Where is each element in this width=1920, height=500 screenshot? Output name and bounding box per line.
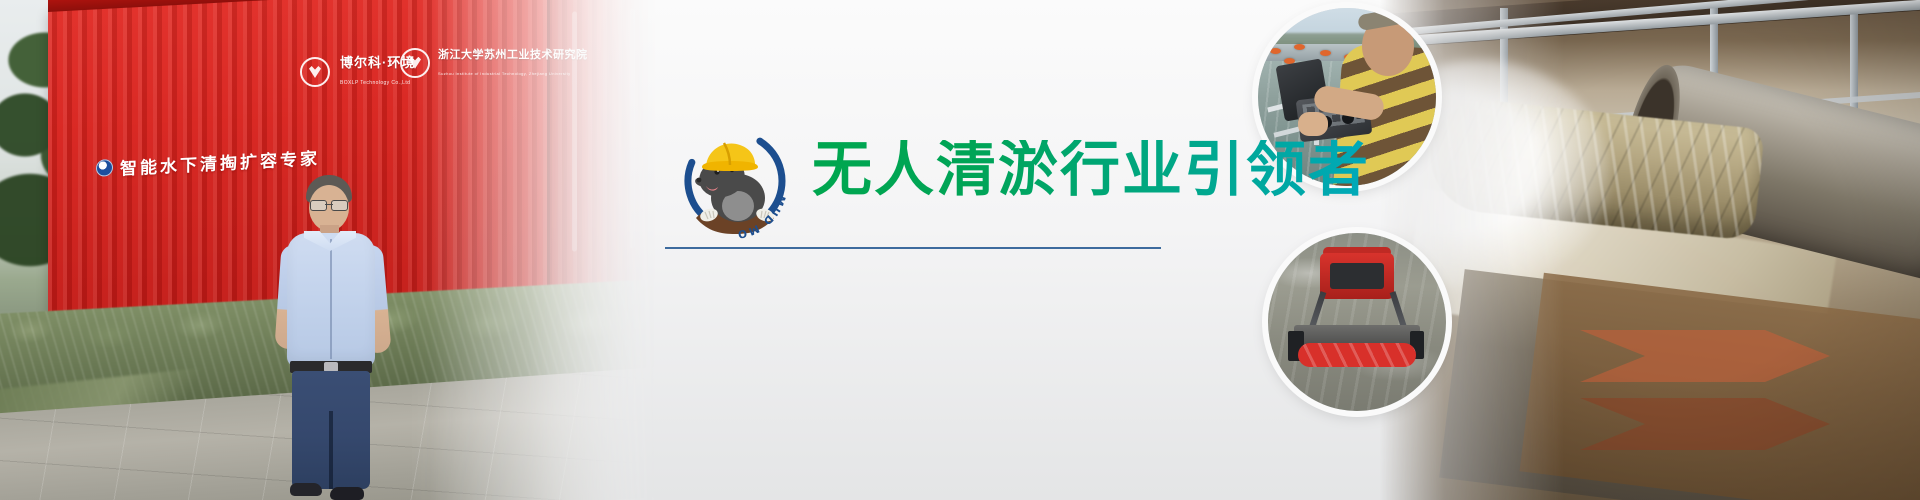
photo-fade-overlay bbox=[430, 0, 660, 500]
eyeglasses bbox=[310, 200, 348, 209]
circle-photo-dredging-robot bbox=[1268, 233, 1446, 411]
partner-seal-icon bbox=[400, 48, 430, 78]
person-in-photo bbox=[268, 175, 393, 495]
mud-mole-logo: MUD MOLE bbox=[676, 122, 794, 240]
right-background-photo bbox=[1380, 0, 1920, 500]
slogan-badge-icon bbox=[96, 159, 113, 177]
left-photo: 博尔科·环境 BOXLP Technology Co.,Ltd 浙江大学苏州工业… bbox=[0, 0, 660, 500]
container-brand-en: BOXLP Technology Co.,Ltd bbox=[340, 80, 410, 86]
hero-banner: 博尔科·环境 BOXLP Technology Co.,Ltd 浙江大学苏州工业… bbox=[0, 0, 1920, 500]
headline-divider bbox=[665, 247, 1161, 249]
brand-seal-icon bbox=[300, 57, 330, 87]
banner-headline: 无人清淤行业引领者 bbox=[812, 140, 1370, 200]
